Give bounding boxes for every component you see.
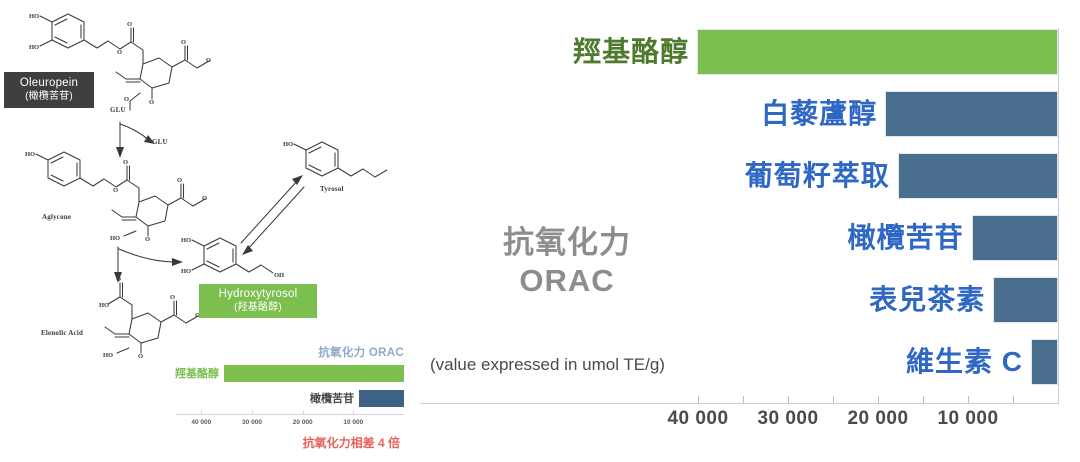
bar-row: 表兒茶素	[420, 277, 1058, 323]
svg-text:O: O	[149, 99, 154, 106]
svg-text:O: O	[206, 57, 211, 64]
axis-ticklabel: 40 000	[667, 408, 728, 430]
axis-tick-major	[788, 396, 789, 404]
bar-label: 葡萄籽萃取	[745, 162, 890, 190]
svg-text:O: O	[138, 353, 143, 360]
inset-orac-chart: 抗氧化力 ORAC 羥基酪醇 橄欖苦苷 40 00030 00020 00010…	[148, 344, 410, 454]
svg-text:HO: HO	[25, 151, 35, 158]
inset-axis-ticklabels: 40 00030 00020 00010 000	[176, 419, 404, 431]
bar-label: 表兒茶素	[869, 286, 985, 314]
svg-text:O: O	[177, 177, 182, 184]
svg-text:O: O	[202, 195, 207, 202]
inset-axis-tick	[303, 411, 304, 415]
inset-bar-row: 橄欖苦苷	[148, 388, 404, 408]
svg-text:HO: HO	[110, 235, 120, 242]
bar-row: 維生素 C	[420, 339, 1058, 385]
bar-row: 橄欖苦苷	[420, 215, 1058, 261]
axis-tick-major	[968, 396, 969, 404]
molecule-label-aglycone: Aglycone	[42, 213, 71, 221]
inset-axis-ticklabel: 20 000	[293, 419, 313, 426]
svg-text:O: O	[116, 276, 121, 283]
inset-axis-ticklabel: 10 000	[343, 419, 363, 426]
bar-row: 羥基酪醇	[420, 29, 1058, 75]
molecule-label-tyrosol: Tyrosol	[320, 185, 344, 193]
bar-5	[1031, 339, 1058, 385]
orac-chart-panel: 抗氧化力 ORAC (value expressed in umol TE/g)…	[420, 0, 1080, 462]
inset-axis-ticklabel: 40 000	[191, 419, 211, 426]
inset-axis-ticklabel: 30 000	[242, 419, 262, 426]
bar-label: 白藜蘆醇	[761, 100, 877, 128]
axis-tick-major	[878, 396, 879, 404]
inset-bar-label: 羥基酪醇	[175, 365, 219, 381]
inset-bar-label: 橄欖苦苷	[310, 390, 354, 406]
callout-oleuropein: Oleuropein (橄欖苦苷)	[4, 72, 94, 108]
svg-text:HO: HO	[29, 44, 39, 51]
inset-footnote: 抗氧化力相差 4 倍	[303, 434, 400, 451]
axis-ticklabel: 20 000	[847, 408, 908, 430]
svg-text:O: O	[127, 21, 132, 28]
molecule-label-elenolic-acid: Elenolic Acid	[41, 329, 83, 337]
bar-0	[697, 29, 1058, 75]
bar-row: 葡萄籽萃取	[420, 153, 1058, 199]
svg-text:O: O	[124, 96, 129, 103]
bar-1	[885, 91, 1058, 137]
inset-bar-row: 羥基酪醇	[148, 363, 404, 383]
inset-chart-title: 抗氧化力 ORAC	[318, 344, 404, 360]
svg-text:HO: HO	[181, 237, 191, 244]
axis-tick-major	[698, 396, 699, 404]
pathway-diagram-panel: HO HO O O O O O O HO O O O O O HO HO O O…	[0, 0, 420, 462]
callout-oleuropein-zh: (橄欖苦苷)	[8, 91, 90, 102]
axis-tick-minor	[743, 396, 744, 403]
svg-text:O: O	[117, 49, 122, 56]
svg-text:O: O	[123, 159, 128, 166]
svg-text:O: O	[113, 187, 118, 194]
axis-ticklabel: 30 000	[757, 408, 818, 430]
svg-text:HO: HO	[29, 13, 39, 20]
callout-oleuropein-en: Oleuropein	[8, 77, 90, 90]
chart-axis-line	[420, 403, 1059, 404]
bar-3	[972, 215, 1058, 261]
axis-tick-minor	[833, 396, 834, 403]
inset-axis-tick	[201, 411, 202, 415]
svg-text:HO: HO	[181, 268, 191, 275]
chart-baseline	[1058, 28, 1059, 403]
svg-text:O: O	[145, 236, 150, 243]
bar-row: 白藜蘆醇	[420, 91, 1058, 137]
inset-bar-oleuropein	[359, 390, 404, 407]
bar-label: 橄欖苦苷	[848, 224, 964, 252]
callout-hydroxytyrosol: Hydroxytyrosol (羟基酪醇)	[199, 284, 317, 318]
svg-text:OH: OH	[274, 272, 284, 279]
svg-text:HO: HO	[99, 302, 109, 309]
axis-tick-minor	[1013, 396, 1014, 403]
molecule-label-glu-bound: GLU	[110, 106, 126, 114]
slide-root: HO HO O O O O O O HO O O O O O HO HO O O…	[0, 0, 1080, 462]
bar-label: 維生素 C	[906, 348, 1023, 376]
svg-text:O: O	[170, 294, 175, 301]
callout-hydroxytyrosol-zh: (羟基酪醇)	[203, 302, 313, 313]
bar-4	[993, 277, 1058, 323]
inset-axis-tick	[252, 411, 253, 415]
inset-axis-tick	[353, 411, 354, 415]
axis-ticklabel: 10 000	[937, 408, 998, 430]
bar-2	[898, 153, 1058, 199]
inset-axis-line	[176, 414, 404, 415]
inset-bar-hydroxytyrosol	[224, 365, 404, 382]
svg-text:O: O	[181, 39, 186, 46]
callout-hydroxytyrosol-en: Hydroxytyrosol	[203, 288, 313, 301]
orac-chart: 抗氧化力 ORAC (value expressed in umol TE/g)…	[420, 0, 1080, 462]
svg-text:HO: HO	[103, 352, 113, 359]
bar-label: 羥基酪醇	[573, 38, 689, 66]
molecule-label-glu-released: GLU	[152, 138, 168, 146]
svg-text:HO: HO	[283, 141, 293, 148]
axis-tick-minor	[923, 396, 924, 403]
